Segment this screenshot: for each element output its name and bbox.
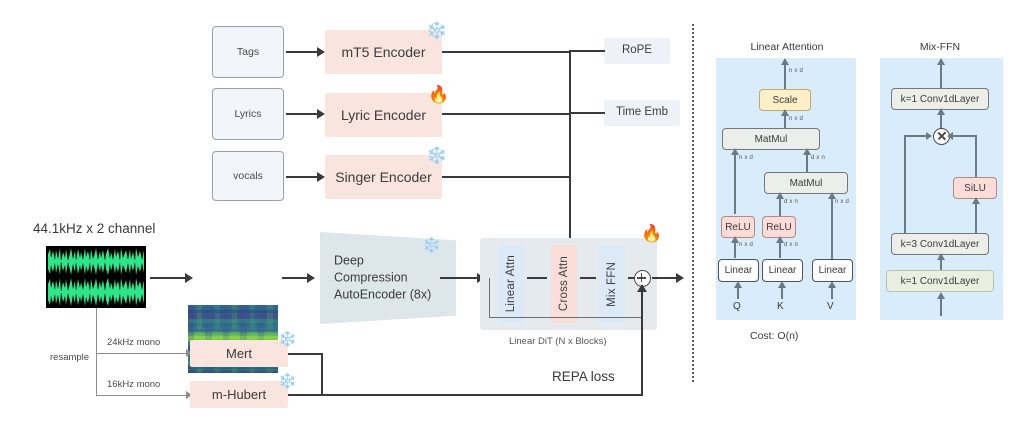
arrowhead xyxy=(317,109,325,119)
dit-block-label: Linear Attn xyxy=(505,255,517,312)
la-output-line xyxy=(784,62,786,90)
fire-icon: 🔥 xyxy=(428,86,449,103)
encoder-label: Mert xyxy=(226,346,252,361)
arrowhead xyxy=(972,197,980,204)
edge-label-mm-right: d x n xyxy=(811,155,825,161)
arrow-tags-to-mt5 xyxy=(286,51,319,53)
box-label: ReLU xyxy=(725,222,751,233)
arrowhead xyxy=(731,236,739,243)
input-label: Lyrics xyxy=(234,108,261,120)
line-mt5-to-bus xyxy=(442,51,571,53)
encoder-mert: Mert xyxy=(190,340,288,367)
dit-block-cross-attn: Cross Attn xyxy=(551,245,577,323)
condition-label: RoPE xyxy=(622,44,652,58)
line-singer-to-bus xyxy=(442,176,571,178)
la-line-matmulmid-to-matmultop xyxy=(806,152,808,174)
arrowhead xyxy=(734,281,742,288)
stereo-waveform xyxy=(46,246,146,308)
repa-loss-riser xyxy=(641,290,643,395)
la-input-k: K xyxy=(777,301,784,312)
arrowhead xyxy=(803,148,811,155)
box-label: Linear xyxy=(725,265,753,276)
line-mert-out xyxy=(288,353,323,355)
la-input-v: V xyxy=(827,301,834,312)
arrowhead xyxy=(937,253,945,260)
la-box-linear-v: Linear xyxy=(812,259,853,282)
box-label: ReLU xyxy=(766,222,792,233)
la-box-linear-k: Linear xyxy=(762,259,803,282)
arrowhead xyxy=(776,192,784,199)
la-line-reluq-to-matmul xyxy=(734,152,736,214)
arrowhead xyxy=(676,273,684,283)
line-rope-to-bus xyxy=(570,50,605,52)
dit-block-label: Mix FFN xyxy=(606,262,618,307)
condition-rope: RoPE xyxy=(604,38,670,64)
audio-source-label: 44.1kHz x 2 channel xyxy=(33,221,155,236)
arrowhead xyxy=(317,172,325,182)
arrowhead xyxy=(781,58,789,65)
snowflake-icon: ❄️ xyxy=(422,238,441,253)
arrowhead xyxy=(828,281,836,288)
input-label: Tags xyxy=(237,46,259,58)
edge-label-scale-in: n x d xyxy=(789,116,803,122)
rate-label-24khz: 24kHz mono xyxy=(107,337,160,348)
input-box-tags: Tags xyxy=(212,26,284,78)
arrowhead xyxy=(781,109,789,116)
snowflake-icon: ❄️ xyxy=(426,147,447,164)
encoder-mt5: mT5 Encoder xyxy=(325,30,442,74)
la-box-matmul-mid: MatMul xyxy=(764,172,848,194)
arrow-vocals-to-singer-encoder xyxy=(286,176,319,178)
encoder-lyric: Lyric Encoder xyxy=(325,93,442,137)
condition-bus xyxy=(569,50,571,242)
la-box-matmul-top: MatMul xyxy=(722,128,820,150)
snowflake-icon: ❄️ xyxy=(426,22,447,39)
input-box-lyrics: Lyrics xyxy=(212,88,284,140)
line-cross-to-mixffn xyxy=(580,277,596,279)
box-label: k=1 Conv1dLayer xyxy=(901,276,980,287)
box-label: SiLU xyxy=(964,183,986,194)
line-linear-to-cross xyxy=(527,277,547,279)
panel-title-mix-ffn: Mix-FFN xyxy=(895,41,985,53)
arrow-lyrics-to-lyric-encoder xyxy=(286,113,319,115)
la-box-relu-q: ReLU xyxy=(721,216,755,238)
la-line-reluk-to-matmulmid xyxy=(779,196,781,218)
mf-line-convmid-to-silu xyxy=(975,201,977,233)
encoder-label: Lyric Encoder xyxy=(341,107,426,124)
residual-skip-bottom xyxy=(489,317,642,318)
dit-caption: Linear DiT (N x Blocks) xyxy=(509,336,607,347)
arrowhead xyxy=(185,273,193,283)
mf-box-conv-mid: k=3 Conv1dLayer xyxy=(891,233,989,255)
panel-title-linear-attention: Linear Attention xyxy=(722,41,852,53)
box-label: MatMul xyxy=(790,178,823,189)
arrowhead xyxy=(731,148,739,155)
encoder-singer: Singer Encoder xyxy=(325,155,442,199)
arrowhead xyxy=(776,236,784,243)
mf-box-conv-top: k=1 Conv1dLayer xyxy=(891,88,989,110)
mf-skip-left-riser xyxy=(904,136,906,236)
dit-block-label: Cross Attn xyxy=(558,256,570,311)
section-divider xyxy=(692,24,694,382)
la-cost-label: Cost: O(n) xyxy=(750,330,798,342)
arrowhead xyxy=(317,47,325,57)
arrowhead xyxy=(637,284,647,292)
edge-label-mid-left: d x n xyxy=(784,199,798,205)
mf-box-silu: SiLU xyxy=(953,177,997,199)
dcae-line-1: Deep xyxy=(334,254,364,268)
la-line-linearv-to-matmulmid xyxy=(831,196,833,262)
la-box-relu-k: ReLU xyxy=(762,216,796,238)
condition-label: Time Emb xyxy=(616,106,668,120)
arrowhead xyxy=(828,192,836,199)
input-label: vocals xyxy=(233,170,263,182)
diagram-canvas: Tags Lyrics vocals mT5 Encoder ❄️ Lyric … xyxy=(0,0,1017,426)
la-input-q: Q xyxy=(733,301,741,312)
arrowhead xyxy=(307,273,315,283)
arrowhead xyxy=(778,281,786,288)
arrow-dcae-to-dit xyxy=(440,277,480,279)
arrow-spectrogram-to-dcae xyxy=(282,277,310,279)
condition-time-emb: Time Emb xyxy=(604,100,680,126)
arrowhead xyxy=(937,58,945,65)
encoder-label: Singer Encoder xyxy=(335,169,432,186)
edge-label-out: n x d xyxy=(789,68,803,74)
arrowhead xyxy=(947,132,953,140)
edge-label-mid-right: n x d xyxy=(835,199,849,205)
snowflake-icon: ❄️ xyxy=(278,374,297,389)
resample-label: resample xyxy=(50,352,89,363)
encoder-label: mT5 Encoder xyxy=(341,44,425,61)
mf-silu-to-mul xyxy=(952,135,977,137)
edge-label-mm-left: n x d xyxy=(739,155,753,161)
dit-block-linear-attn: Linear Attn xyxy=(498,245,524,323)
snowflake-icon: ❄️ xyxy=(278,332,297,347)
edge-label-reluk-in: d x n xyxy=(784,242,798,248)
waveform-graphic xyxy=(46,246,146,308)
la-box-linear-q: Linear xyxy=(718,259,759,282)
repa-loss-label: REPA loss xyxy=(552,369,615,384)
dcae-line-3: AutoEncoder (8x) xyxy=(334,287,431,301)
box-label: Linear xyxy=(819,265,847,276)
encoder-m-hubert: m-Hubert xyxy=(190,381,288,408)
mf-output-line xyxy=(940,62,942,88)
residual-skip-left xyxy=(489,278,490,318)
box-label: Linear xyxy=(769,265,797,276)
line-16khz xyxy=(96,395,189,396)
arrowhead xyxy=(926,132,932,140)
arrowhead xyxy=(937,108,945,115)
line-24khz xyxy=(96,353,189,354)
mf-box-conv-bottom: k=1 Conv1dLayer xyxy=(886,270,994,292)
box-label: MatMul xyxy=(755,134,788,145)
box-label: k=3 Conv1dLayer xyxy=(901,239,980,250)
dcae-label: Deep Compression AutoEncoder (8x) xyxy=(334,253,431,304)
rate-label-16khz: 16kHz mono xyxy=(107,379,160,390)
repa-loss-line xyxy=(288,394,643,396)
la-box-scale: Scale xyxy=(759,89,811,111)
mf-input-line xyxy=(940,296,942,316)
box-label: Scale xyxy=(772,95,797,106)
encoder-label: m-Hubert xyxy=(212,387,266,402)
dit-block-mix-ffn: Mix FFN xyxy=(599,245,625,323)
line-lyric-to-bus xyxy=(442,113,571,115)
edge-label-reluq-in: n x d xyxy=(739,242,753,248)
line-mert-down xyxy=(321,353,323,395)
line-time-emb-to-bus xyxy=(570,112,605,114)
mf-silu-riser xyxy=(975,136,977,178)
resample-drop-line xyxy=(96,308,97,396)
fire-icon: 🔥 xyxy=(641,225,662,242)
input-box-vocals: vocals xyxy=(212,151,284,201)
box-label: k=1 Conv1dLayer xyxy=(901,94,980,105)
arrow-waveform-to-spectrogram xyxy=(150,277,188,279)
arrowhead xyxy=(937,292,945,299)
dcae-line-2: Compression xyxy=(334,271,408,285)
